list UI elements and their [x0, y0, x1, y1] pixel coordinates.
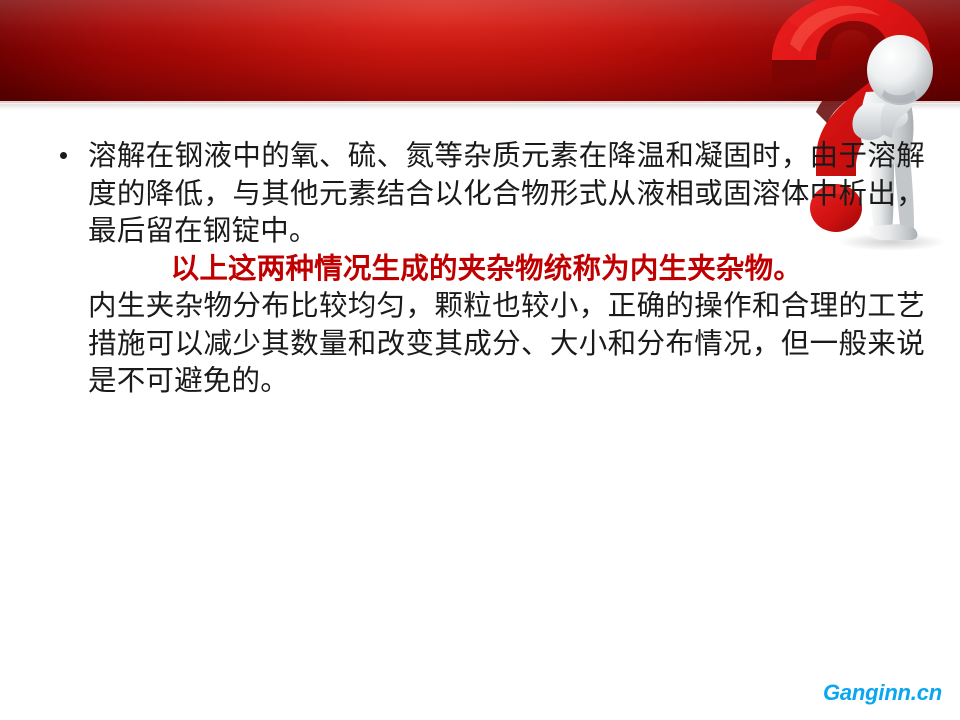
slide-header-banner: [0, 0, 960, 101]
bullet-icon: [60, 152, 67, 159]
site-watermark: Ganginn.cn: [823, 680, 942, 706]
bullet-paragraph-1: 溶解在钢液中的氧、硫、氮等杂质元素在降温和凝固时，由于溶解度的降低，与其他元素结…: [55, 138, 925, 251]
slide-body-text: 溶解在钢液中的氧、硫、氮等杂质元素在降温和凝固时，由于溶解度的降低，与其他元素结…: [55, 138, 925, 401]
paragraph-text-1: 溶解在钢液中的氧、硫、氮等杂质元素在降温和凝固时，由于溶解度的降低，与其他元素结…: [88, 138, 925, 251]
banner-bottom-shadow: [0, 104, 960, 110]
paragraph-text-3: 内生夹杂物分布比较均匀，颗粒也较小，正确的操作和合理的工艺措施可以减少其数量和改…: [55, 288, 925, 401]
presentation-slide: 溶解在钢液中的氧、硫、氮等杂质元素在降温和凝固时，由于溶解度的降低，与其他元素结…: [0, 0, 960, 720]
highlight-conclusion-text: 以上这两种情况生成的夹杂物统称为内生夹杂物。: [55, 251, 925, 289]
banner-sheen-overlay: [0, 0, 960, 52]
